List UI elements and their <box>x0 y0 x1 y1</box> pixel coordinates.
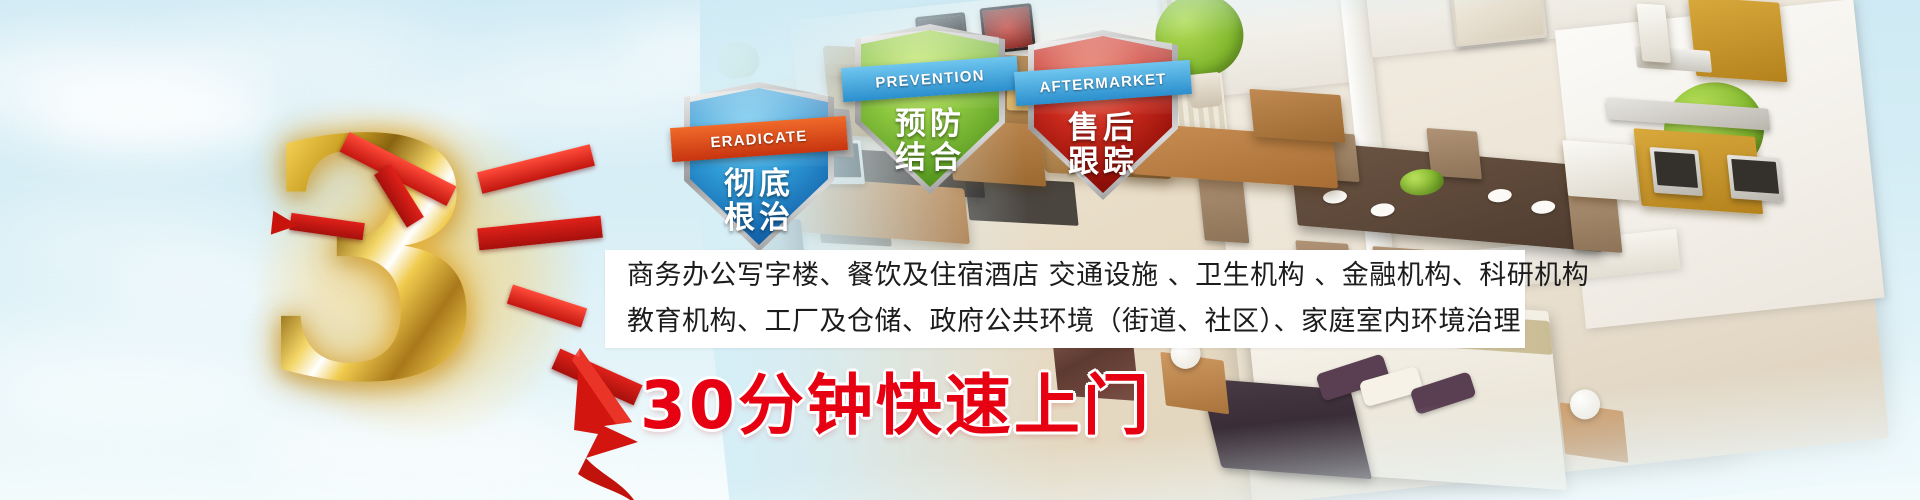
cloud-shape <box>0 210 260 280</box>
shield-banner-label: PREVENTION <box>875 67 985 92</box>
headline-text: 30分钟快速上门 <box>640 352 1152 448</box>
description-panel: 商务办公写字楼、餐饮及住宿酒店 交通设施 、卫生机构 、金融机构、科研机构 教育… <box>605 250 1525 348</box>
shield-cn-line2: 跟踪 <box>1028 136 1178 181</box>
cloud-shape <box>0 330 300 440</box>
ribbon-tail-point <box>271 211 299 238</box>
potted-plant-pot <box>1187 72 1222 109</box>
kitchen-oven <box>1650 147 1703 196</box>
ribbon-arrow-tail <box>578 458 638 500</box>
side-cabinet <box>1249 89 1345 143</box>
shield-prevention[interactable]: PREVENTION 预防 结合 <box>855 24 1005 194</box>
shield-banner-label: AFTERMARKET <box>1039 70 1167 96</box>
description-line-2: 教育机构、工厂及仓储、政府公共环境（街道、社区）、家庭室内环境治理 <box>627 299 1503 345</box>
description-line-1: 商务办公写字楼、餐饮及住宿酒店 交通设施 、卫生机构 、金融机构、科研机构 <box>627 253 1503 299</box>
shield-cn-line2: 根治 <box>684 192 834 237</box>
cloud-shape <box>40 80 280 150</box>
kitchen-side-counter <box>1562 140 1639 201</box>
shield-eradicate[interactable]: ERADICATE 彻底 根治 <box>684 82 834 252</box>
kitchen-dishwasher <box>1727 155 1784 202</box>
cloud-shape <box>0 40 240 130</box>
shield-cn-line2: 结合 <box>855 132 1005 177</box>
shield-banner-label: ERADICATE <box>710 127 808 151</box>
promo-banner: 3 3 ERADICATE 彻底 根治 PREVENTION 预防 <box>0 0 1920 500</box>
potted-plant-foliage <box>716 40 762 82</box>
shield-aftermarket[interactable]: AFTERMARKET 售后 跟踪 <box>1028 30 1178 200</box>
